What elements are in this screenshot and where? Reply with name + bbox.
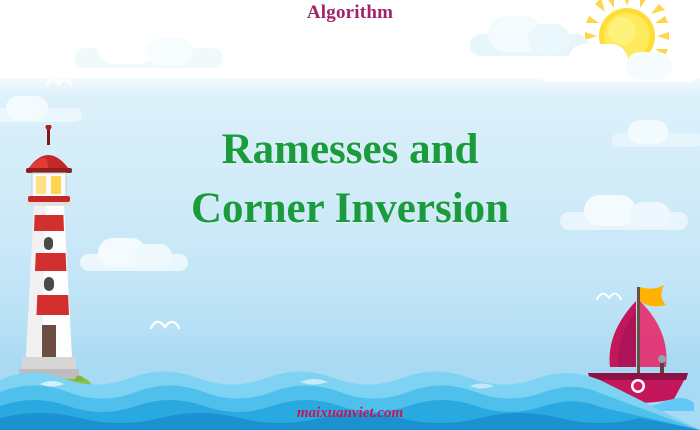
- page-title-line-1: Ramesses and: [0, 120, 700, 179]
- illustration-banner: Algorithm Ramesses and Corner Inversion …: [0, 0, 700, 430]
- cloud-icon: [75, 30, 225, 70]
- seagull-icon: [46, 76, 72, 94]
- category-label: Algorithm: [0, 2, 700, 24]
- cloud-icon: [0, 96, 84, 122]
- seagull-icon: [150, 318, 180, 337]
- cloud-icon: [540, 44, 700, 84]
- cloud-icon: [80, 238, 190, 272]
- page-title: Ramesses and Corner Inversion: [0, 120, 700, 239]
- seagull-icon: [10, 62, 44, 83]
- page-title-line-2: Corner Inversion: [0, 179, 700, 238]
- site-watermark: maixuanviet.com: [0, 405, 700, 422]
